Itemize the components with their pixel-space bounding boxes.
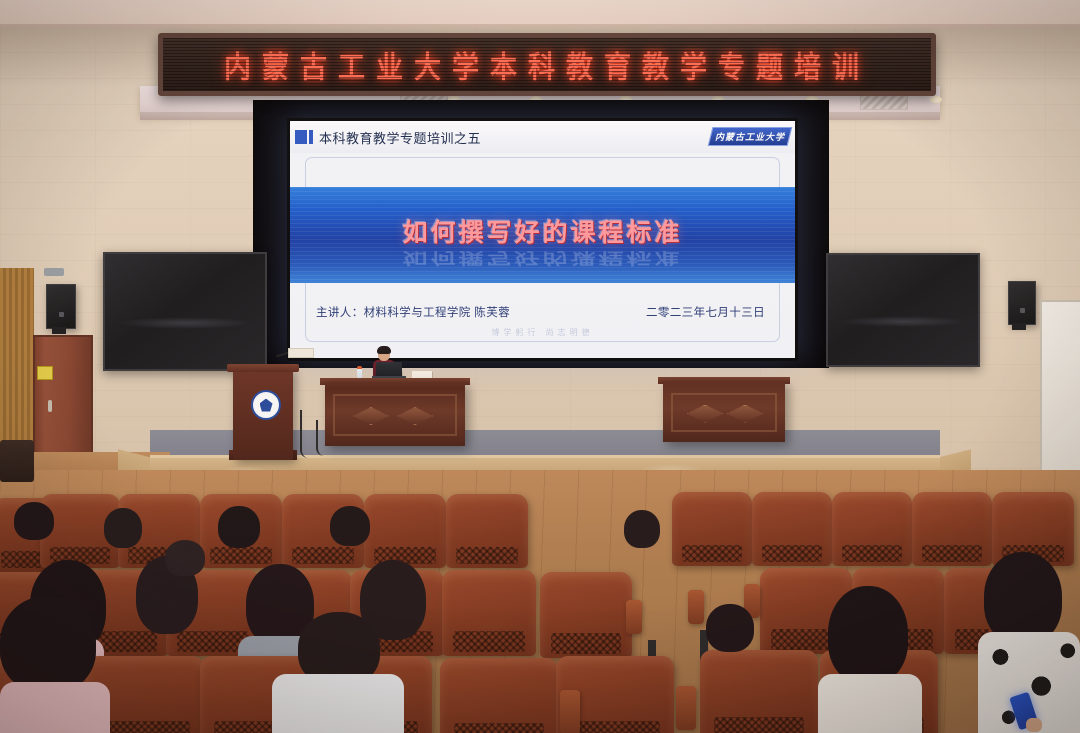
side-chair <box>0 440 34 482</box>
led-banner: 内蒙古工业大学本科教育教学专题培训 <box>158 33 936 96</box>
speaker-bracket-right <box>1012 323 1026 330</box>
seat[interactable] <box>446 494 528 568</box>
slide-header: 本科教育教学专题培训之五 内蒙古工业大学 <box>290 121 795 153</box>
floor-cable <box>316 420 334 456</box>
presentation-slide: 本科教育教学专题培训之五 内蒙古工业大学 如何撰写好的课程标准 如何撰写好的课程… <box>290 121 795 358</box>
wall-speaker-right <box>1008 281 1036 325</box>
wall-board-right <box>1040 300 1080 474</box>
door-warning-sign <box>37 366 53 380</box>
attendee <box>160 540 210 580</box>
slide-motto-watermark: 博学躬行 尚志明德 <box>290 327 795 338</box>
seat[interactable] <box>752 492 832 566</box>
armrest <box>626 600 642 634</box>
seat[interactable] <box>672 492 752 566</box>
door-handle[interactable] <box>48 400 52 412</box>
name-card <box>288 348 314 358</box>
podium-top <box>227 364 299 372</box>
attendee <box>700 604 760 662</box>
armrest <box>676 686 696 730</box>
slide-date: 二零二三年七月十三日 <box>646 304 765 320</box>
seat[interactable] <box>442 570 536 656</box>
slide-title-reflection: 如何撰写好的课程标准 <box>290 248 795 270</box>
attendee <box>818 586 930 733</box>
university-logo-text: 内蒙古工业大学 <box>715 130 785 143</box>
slide-main-title: 如何撰写好的课程标准 <box>290 213 795 249</box>
attendee <box>212 506 268 556</box>
seat[interactable] <box>540 572 632 658</box>
papers <box>412 371 432 378</box>
slide-header-title: 本科教育教学专题培训之五 <box>319 128 481 147</box>
downlight-icon <box>930 96 942 103</box>
seat[interactable] <box>440 658 558 733</box>
wall-mount-bracket <box>44 268 64 276</box>
led-banner-text: 内蒙古工业大学本科教育教学专题培训 <box>224 43 870 87</box>
seat[interactable] <box>700 650 818 733</box>
header-accent-icon <box>295 130 313 144</box>
attendee <box>620 510 664 552</box>
hand <box>1026 718 1042 732</box>
slide-byline: 主讲人：材料科学与工程学院 陈芙蓉 <box>316 304 510 320</box>
attendee <box>98 508 148 560</box>
wall-display-left <box>103 252 267 371</box>
university-emblem-icon <box>251 390 281 420</box>
head-table <box>325 382 465 446</box>
university-logo: 内蒙古工业大学 <box>708 127 793 146</box>
armrest <box>560 690 580 733</box>
laptop-icon <box>376 362 403 377</box>
attendee <box>8 502 60 542</box>
projection-screen: 本科教育教学专题培训之五 内蒙古工业大学 如何撰写好的课程标准 如何撰写好的课程… <box>287 118 798 361</box>
wall-speaker-left <box>46 284 76 329</box>
auditorium-photo: 内蒙古工业大学本科教育教学专题培训 本科教育教学专题培训之五 内蒙古工业大学 如… <box>0 0 1080 733</box>
attendee <box>0 596 120 733</box>
seat[interactable] <box>364 494 446 568</box>
ceiling-edge <box>0 24 1080 28</box>
attendee <box>324 506 376 552</box>
side-table <box>663 381 785 442</box>
wall-display-right <box>826 253 980 367</box>
seat[interactable] <box>832 492 912 566</box>
attendee <box>272 612 404 733</box>
speaker-bracket-left <box>52 327 66 334</box>
